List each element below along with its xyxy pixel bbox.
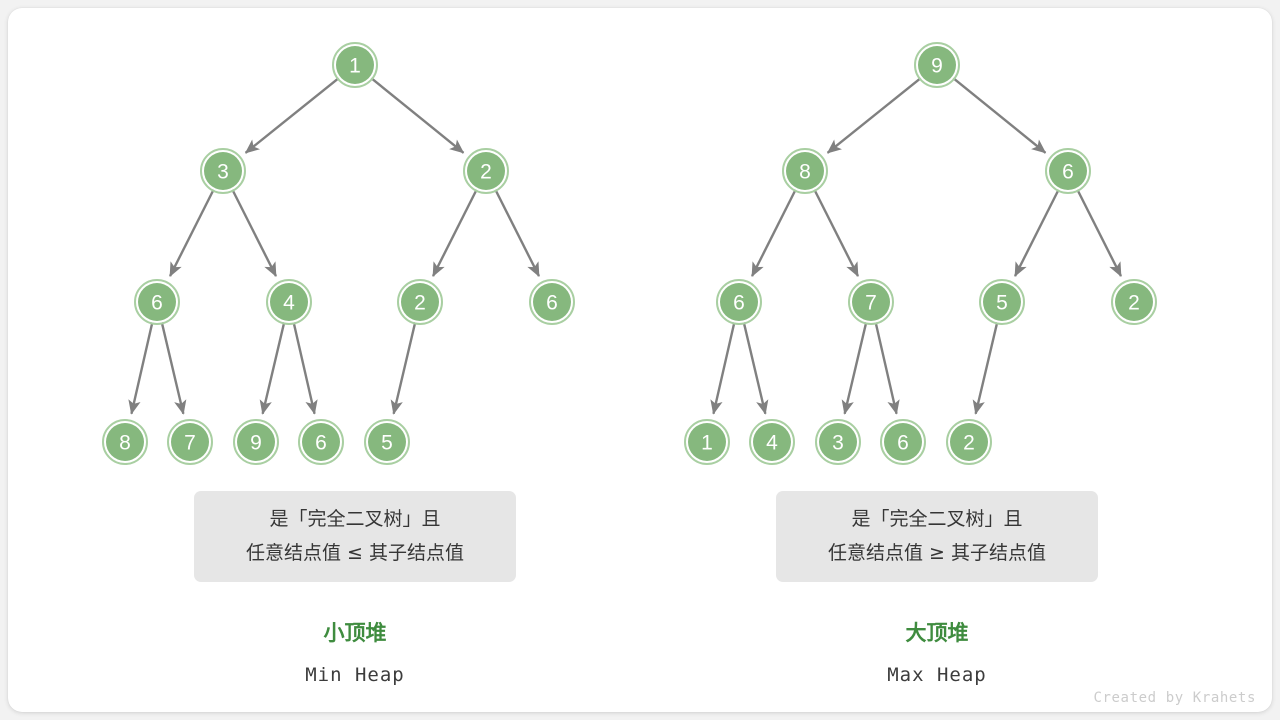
tree-node: 6 xyxy=(299,420,343,464)
tree-node: 6 xyxy=(1046,149,1090,193)
tree-node: 5 xyxy=(365,420,409,464)
tree-edges xyxy=(131,78,1120,414)
max-heap-subtitle: Max Heap xyxy=(776,664,1098,686)
heap-diagram-svg: 132642687965986675214362 xyxy=(0,0,1280,720)
tree-node: 5 xyxy=(980,280,1024,324)
tree-node: 3 xyxy=(201,149,245,193)
tree-edge xyxy=(433,190,477,276)
max-heap-info-line-2: 任意结点值 ≥ 其子结点值 xyxy=(776,536,1098,570)
tree-edge xyxy=(170,190,214,276)
tree-node: 4 xyxy=(267,280,311,324)
tree-edge xyxy=(814,190,858,276)
tree-node-value: 9 xyxy=(931,55,943,78)
max-heap-info-box: 是「完全二叉树」且 任意结点值 ≥ 其子结点值 xyxy=(776,491,1098,582)
tree-edge xyxy=(495,190,539,276)
tree-node: 6 xyxy=(881,420,925,464)
tree-node-value: 3 xyxy=(217,161,229,184)
tree-node: 2 xyxy=(464,149,508,193)
tree-node: 2 xyxy=(1112,280,1156,324)
tree-node: 2 xyxy=(398,280,442,324)
tree-node-value: 4 xyxy=(283,292,295,315)
tree-node: 6 xyxy=(530,280,574,324)
tree-edge xyxy=(752,190,796,276)
tree-edge xyxy=(1077,190,1121,276)
tree-node-value: 6 xyxy=(897,432,909,455)
tree-edge xyxy=(845,322,867,413)
tree-edge xyxy=(162,322,184,413)
tree-edge xyxy=(263,322,285,413)
tree-node-value: 2 xyxy=(963,432,975,455)
tree-edge xyxy=(371,78,463,153)
tree-node-value: 1 xyxy=(349,55,361,78)
tree-node: 7 xyxy=(168,420,212,464)
tree-node-value: 6 xyxy=(1062,161,1074,184)
tree-edge xyxy=(1015,190,1059,276)
tree-node: 8 xyxy=(103,420,147,464)
tree-edge xyxy=(744,322,766,413)
tree-node-value: 2 xyxy=(414,292,426,315)
tree-node: 2 xyxy=(947,420,991,464)
diagram-stage: 132642687965986675214362 是「完全二叉树」且 任意结点值… xyxy=(0,0,1280,720)
tree-node-value: 6 xyxy=(733,292,745,315)
tree-node: 8 xyxy=(783,149,827,193)
tree-node-value: 2 xyxy=(1128,292,1140,315)
max-heap-title: 大顶堆 xyxy=(776,617,1098,647)
tree-node-value: 2 xyxy=(480,161,492,184)
min-heap-subtitle: Min Heap xyxy=(194,664,516,686)
tree-node-value: 6 xyxy=(315,432,327,455)
tree-node: 3 xyxy=(816,420,860,464)
max-heap-info-line-1: 是「完全二叉树」且 xyxy=(776,502,1098,536)
tree-edge xyxy=(876,322,897,413)
tree-edge xyxy=(976,322,998,413)
tree-node: 9 xyxy=(915,43,959,87)
min-heap-title: 小顶堆 xyxy=(194,617,516,647)
tree-node: 6 xyxy=(717,280,761,324)
tree-node-value: 8 xyxy=(799,161,811,184)
tree-node-value: 7 xyxy=(865,292,877,315)
tree-node: 6 xyxy=(135,280,179,324)
tree-edge xyxy=(232,190,276,276)
tree-node: 4 xyxy=(750,420,794,464)
tree-node: 1 xyxy=(333,43,377,87)
tree-node: 9 xyxy=(234,420,278,464)
tree-edge xyxy=(828,78,921,153)
tree-node-value: 5 xyxy=(996,292,1008,315)
tree-edge xyxy=(246,78,339,153)
tree-edge xyxy=(953,78,1045,153)
tree-node-value: 5 xyxy=(381,432,393,455)
tree-node: 1 xyxy=(685,420,729,464)
min-heap-info-box: 是「完全二叉树」且 任意结点值 ≤ 其子结点值 xyxy=(194,491,516,582)
tree-nodes: 132642687965986675214362 xyxy=(103,43,1156,464)
tree-edge xyxy=(294,322,315,413)
tree-node-value: 7 xyxy=(184,432,196,455)
tree-edge xyxy=(713,322,734,413)
tree-edge xyxy=(131,322,152,413)
tree-node-value: 1 xyxy=(701,432,713,455)
tree-node-value: 6 xyxy=(546,292,558,315)
tree-node-value: 4 xyxy=(766,432,778,455)
tree-edge xyxy=(394,322,416,413)
watermark-credit: Created by Krahets xyxy=(1093,690,1256,706)
tree-node: 7 xyxy=(849,280,893,324)
min-heap-info-line-2: 任意结点值 ≤ 其子结点值 xyxy=(194,536,516,570)
min-heap-info-line-1: 是「完全二叉树」且 xyxy=(194,502,516,536)
tree-node-value: 6 xyxy=(151,292,163,315)
tree-node-value: 3 xyxy=(832,432,844,455)
tree-node-value: 8 xyxy=(119,432,131,455)
tree-node-value: 9 xyxy=(250,432,262,455)
